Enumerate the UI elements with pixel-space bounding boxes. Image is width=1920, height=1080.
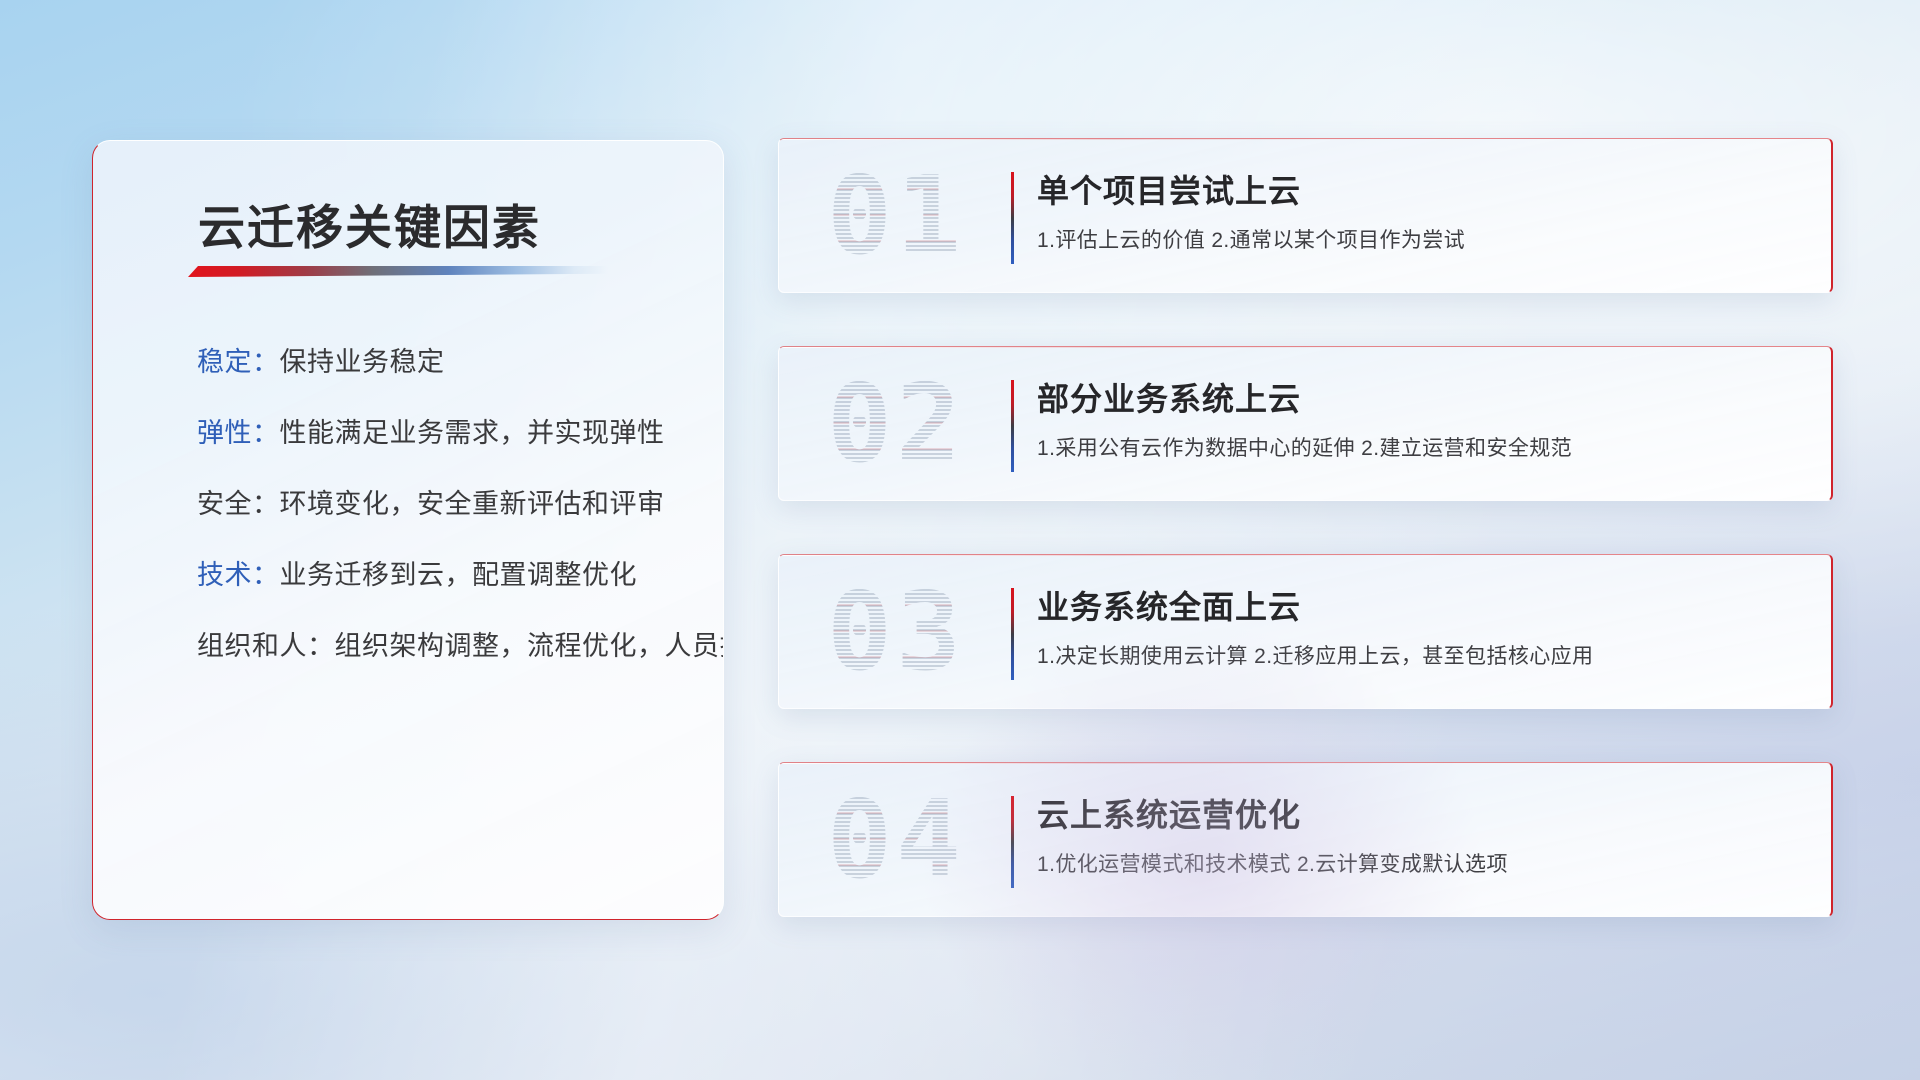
card-top-edge <box>779 138 1389 140</box>
factor-label: 技术： <box>197 560 280 590</box>
accent-bar <box>1011 796 1014 888</box>
factor-row: 稳定：保持业务稳定 <box>197 349 683 376</box>
stage-subtitle: 1.优化运营模式和技术模式 2.云计算变成默认选项 <box>1037 848 1508 878</box>
factor-label: 组织和人： <box>197 631 335 661</box>
card-top-edge <box>779 554 1389 556</box>
card-top-edge <box>779 346 1389 348</box>
stage-card[interactable]: 0303业务系统全面上云1.决定长期使用云计算 2.迁移应用上云，甚至包括核心应… <box>778 554 1833 709</box>
factor-text: 业务迁移到云，配置调整优化 <box>280 560 638 590</box>
factor-row: 技术：业务迁移到云，配置调整优化 <box>197 562 683 589</box>
stage-subtitle: 1.评估上云的价值 2.通常以某个项目作为尝试 <box>1037 224 1465 254</box>
factor-label: 安全： <box>197 489 280 519</box>
factor-text: 环境变化，安全重新评估和评审 <box>280 489 665 519</box>
factor-text: 组织架构调整，流程优化，人员技能培训 <box>335 631 725 661</box>
stage-number-watermark-tint: 02 <box>801 361 991 489</box>
stage-title: 云上系统运营优化 <box>1037 790 1301 836</box>
stage-subtitle: 1.采用公有云作为数据中心的延伸 2.建立运营和安全规范 <box>1037 432 1572 462</box>
factor-row: 安全：环境变化，安全重新评估和评审 <box>197 491 683 518</box>
factor-label: 稳定： <box>197 347 280 377</box>
stage-card[interactable]: 0202部分业务系统上云1.采用公有云作为数据中心的延伸 2.建立运营和安全规范 <box>778 346 1833 501</box>
card-top-edge <box>779 762 1389 764</box>
panel-title: 云迁移关键因素 <box>198 189 541 258</box>
stage-number-watermark-tint: 04 <box>801 777 991 905</box>
key-factors-panel: 云迁移关键因素 稳定：保持业务稳定弹性：性能满足业务需求，并实现弹性安全：环境变… <box>92 140 724 920</box>
stage-number-watermark-tint: 03 <box>801 569 991 697</box>
factor-row: 弹性：性能满足业务需求，并实现弹性 <box>197 420 683 447</box>
stage-number-watermark-tint: 01 <box>801 153 991 281</box>
factor-label: 弹性： <box>197 418 280 448</box>
stage-card[interactable]: 0101单个项目尝试上云1.评估上云的价值 2.通常以某个项目作为尝试 <box>778 138 1833 293</box>
factor-row: 组织和人：组织架构调整，流程优化，人员技能培训 <box>197 633 683 660</box>
factor-text: 性能满足业务需求，并实现弹性 <box>280 418 665 448</box>
stage-title: 业务系统全面上云 <box>1037 582 1301 628</box>
stage-card-list: 0101单个项目尝试上云1.评估上云的价值 2.通常以某个项目作为尝试0202部… <box>778 138 1833 970</box>
stage-title: 部分业务系统上云 <box>1037 374 1301 420</box>
slide-canvas: 云迁移关键因素 稳定：保持业务稳定弹性：性能满足业务需求，并实现弹性安全：环境变… <box>0 0 1920 1080</box>
stage-subtitle: 1.决定长期使用云计算 2.迁移应用上云，甚至包括核心应用 <box>1037 640 1593 670</box>
stage-card[interactable]: 0404云上系统运营优化1.优化运营模式和技术模式 2.云计算变成默认选项 <box>778 762 1833 917</box>
accent-bar <box>1011 172 1014 264</box>
factor-list: 稳定：保持业务稳定弹性：性能满足业务需求，并实现弹性安全：环境变化，安全重新评估… <box>197 349 683 704</box>
accent-bar <box>1011 588 1014 680</box>
factor-text: 保持业务稳定 <box>280 347 445 377</box>
accent-bar <box>1011 380 1014 472</box>
title-underline-rule <box>188 266 608 277</box>
stage-title: 单个项目尝试上云 <box>1037 166 1301 212</box>
